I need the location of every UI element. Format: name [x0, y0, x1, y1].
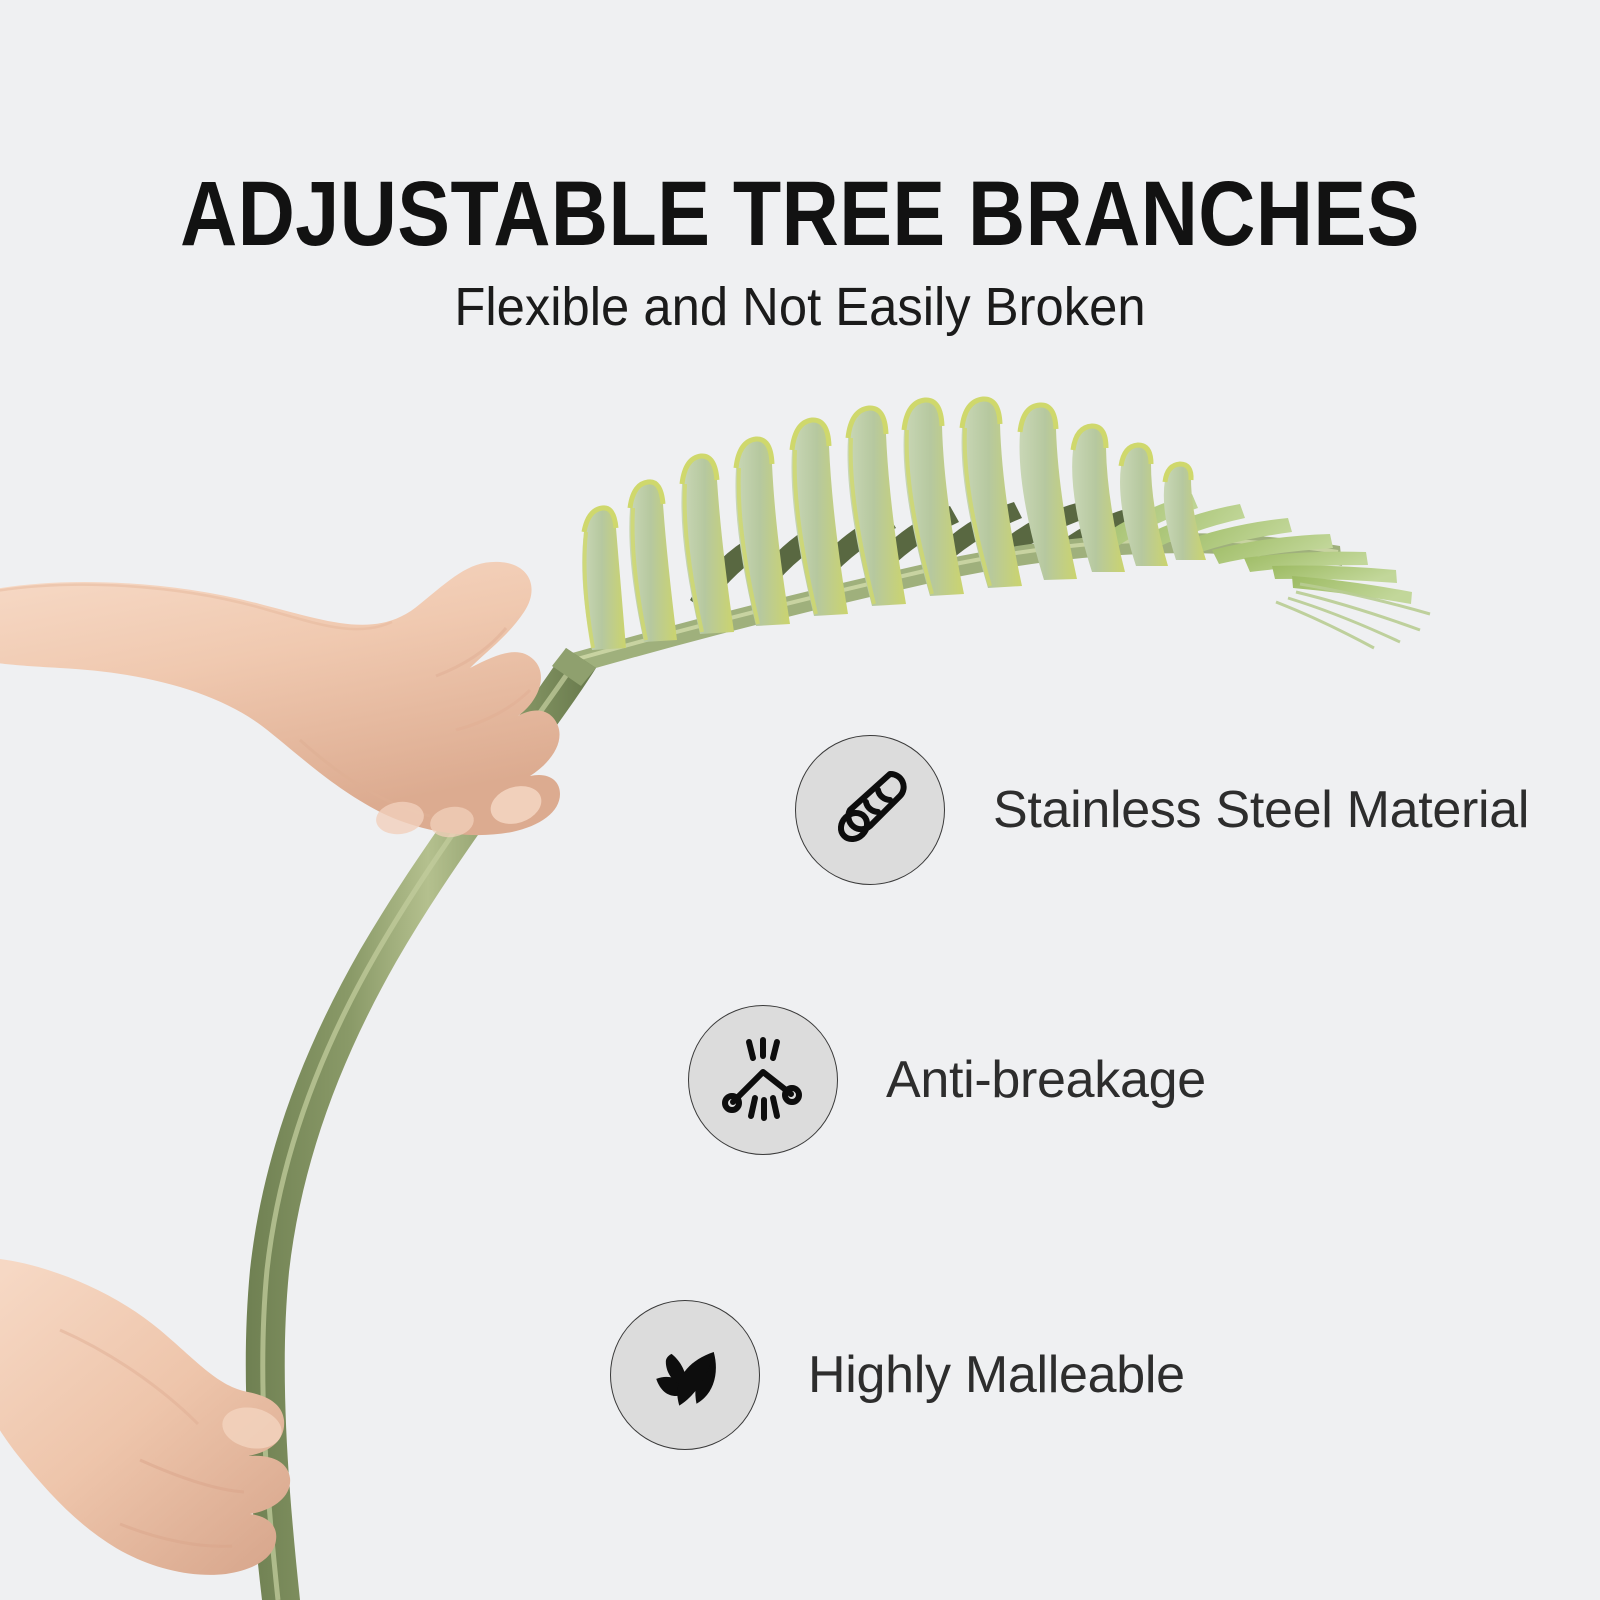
thumb-nail: [486, 780, 547, 830]
bending-rod-icon: [715, 1032, 811, 1128]
frond-rachis: [565, 533, 1342, 676]
stem-highlight: [263, 658, 578, 1600]
feature-icon-badge: [610, 1300, 760, 1450]
feature-row-anti-breakage: Anti-breakage: [688, 1005, 1206, 1155]
leaves-icon: [639, 1329, 731, 1421]
page-title: ADJUSTABLE TREE BRANCHES: [112, 168, 1488, 262]
frond-leaflets: [582, 399, 1206, 650]
frond-dark-leaflets: [690, 502, 1150, 612]
lower-hand: [0, 1258, 290, 1575]
flexible-stem: [246, 648, 596, 1600]
page-subtitle: Flexible and Not Easily Broken: [48, 278, 1552, 337]
feature-icon-badge: [795, 735, 945, 885]
lower-thumb: [218, 1402, 285, 1454]
feature-label: Stainless Steel Material: [993, 780, 1529, 840]
feature-row-highly-malleable: Highly Malleable: [610, 1300, 1185, 1450]
frond-rachis-highlight: [570, 540, 1338, 661]
product-feature-poster: ADJUSTABLE TREE BRANCHES Flexible and No…: [0, 0, 1600, 1600]
feature-icon-badge: [688, 1005, 838, 1155]
feature-row-stainless-steel: Stainless Steel Material: [795, 735, 1529, 885]
upper-hand: [0, 562, 560, 841]
frond-tail-leaflets: [1096, 494, 1412, 604]
frond-tail-wisps: [1276, 584, 1430, 648]
stem-top-tip: [552, 648, 596, 686]
feature-label: Highly Malleable: [808, 1345, 1185, 1405]
steel-rods-icon: [822, 762, 918, 858]
feature-label: Anti-breakage: [886, 1050, 1206, 1110]
